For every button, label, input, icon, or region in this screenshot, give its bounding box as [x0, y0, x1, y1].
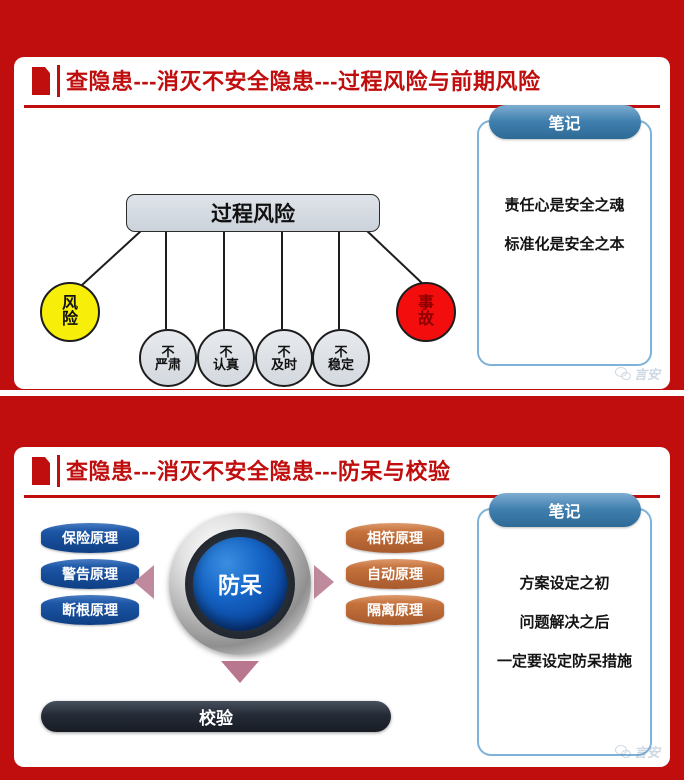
center-ring-mid: 防呆 [185, 529, 295, 639]
node-label-line1: 不 [161, 345, 174, 358]
watermark-text: 言安 [634, 742, 660, 761]
node-not-careful: 不 认真 [197, 329, 255, 387]
center-ring-outer: 防呆 [169, 513, 311, 655]
left-principle-1: 保险原理 [41, 523, 139, 553]
title-divider [57, 455, 60, 487]
notes-line: 一定要设定防呆措施 [479, 650, 650, 671]
right-principle-2: 自动原理 [346, 559, 444, 589]
node-not-timely: 不 及时 [255, 329, 313, 387]
notes-body: 方案设定之初 问题解决之后 一定要设定防呆措施 [479, 572, 650, 689]
left-principle-2: 警告原理 [41, 559, 139, 589]
slide1-title: 查隐患---消灭不安全隐患---过程风险与前期风险 [66, 63, 540, 101]
slide-poka-yoke: 查隐患---消灭不安全隐患---防呆与校验 保险原理 警告原理 断根原理 相符原… [14, 447, 670, 767]
notes-line: 责任心是安全之魂 [479, 194, 650, 215]
bottom-node-verification: 校验 [41, 701, 391, 732]
notes-heading: 笔记 [489, 105, 641, 139]
notes-panel: 笔记 责任心是安全之魂 标准化是安全之本 [477, 120, 652, 366]
arrow-down-icon [221, 661, 259, 683]
root-node-process-risk: 过程风险 [126, 194, 380, 232]
right-principle-3: 隔离原理 [346, 595, 444, 625]
node-not-serious: 不 严肃 [139, 329, 197, 387]
arrow-right-icon [314, 565, 334, 599]
node-not-stable: 不 稳定 [312, 329, 370, 387]
center-node-poka-yoke: 防呆 [193, 537, 287, 631]
slide2-title: 查隐患---消灭不安全隐患---防呆与校验 [66, 453, 450, 491]
node-label-line1: 不 [277, 345, 290, 358]
node-accident: 事 故 [396, 282, 456, 342]
node-label-line2: 严肃 [155, 358, 181, 371]
node-risk-line2: 险 [62, 312, 78, 328]
arrow-left-icon [134, 565, 154, 599]
node-label-line1: 不 [219, 345, 232, 358]
node-label-line2: 及时 [271, 358, 297, 371]
watermark: 言安 [615, 742, 660, 761]
node-label-line2: 稳定 [328, 358, 354, 371]
wechat-bubble-icon [615, 367, 631, 380]
wechat-bubble-icon [615, 745, 631, 758]
document-flag-icon [32, 457, 50, 485]
notes-line: 方案设定之初 [479, 572, 650, 593]
slide1-title-bar: 查隐患---消灭不安全隐患---过程风险与前期风险 [24, 61, 660, 108]
title-divider [57, 65, 60, 97]
slide2-title-bar: 查隐患---消灭不安全隐患---防呆与校验 [24, 451, 660, 498]
node-label-line2: 认真 [213, 358, 239, 371]
node-label-line1: 不 [334, 345, 347, 358]
watermark-text: 言安 [634, 364, 660, 383]
notes-line: 标准化是安全之本 [479, 233, 650, 254]
watermark: 言安 [615, 364, 660, 383]
left-principle-3: 断根原理 [41, 595, 139, 625]
node-accident-line2: 故 [418, 312, 434, 328]
slide-process-risk: 查隐患---消灭不安全隐患---过程风险与前期风险 过程风险 风 险 事 故 不… [14, 57, 670, 389]
node-risk: 风 险 [40, 282, 100, 342]
slide-separator [0, 390, 684, 396]
notes-line: 问题解决之后 [479, 611, 650, 632]
notes-panel: 笔记 方案设定之初 问题解决之后 一定要设定防呆措施 [477, 508, 652, 756]
right-principle-1: 相符原理 [346, 523, 444, 553]
process-risk-diagram: 过程风险 风 险 事 故 不 严肃 不 认真 不 及时 不 稳定 [14, 107, 484, 387]
notes-heading: 笔记 [489, 493, 641, 527]
poka-yoke-diagram: 保险原理 警告原理 断根原理 相符原理 自动原理 隔离原理 防呆 校验 [14, 493, 484, 761]
node-accident-line1: 事 [418, 296, 434, 312]
notes-body: 责任心是安全之魂 标准化是安全之本 [479, 194, 650, 272]
document-flag-icon [32, 67, 50, 95]
node-risk-line1: 风 [62, 296, 78, 312]
